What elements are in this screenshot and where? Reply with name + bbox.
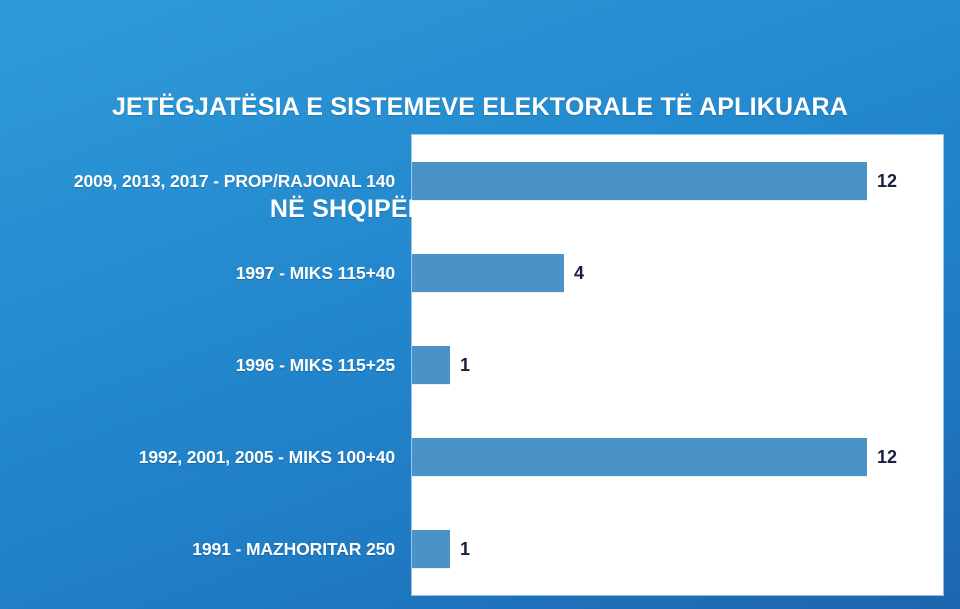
- category-label-3: 1992, 2001, 2005 - MIKS 100+40: [0, 411, 395, 503]
- bar-row: 2009, 2013, 2017 - PROP/RAJONAL 140 12: [0, 135, 960, 227]
- bar-track-4: 1: [412, 503, 943, 595]
- slide-canvas: JETËGJATËSIA E SISTEMEVE ELEKTORALE TË A…: [0, 0, 960, 609]
- bar-value-label-2: 1: [460, 346, 470, 384]
- bar-track-1: 4: [412, 227, 943, 319]
- bar-2[interactable]: [412, 346, 450, 384]
- bar-row: 1997 - MIKS 115+40 4: [0, 227, 960, 319]
- bar-3[interactable]: [412, 438, 867, 476]
- category-label-2: 1996 - MIKS 115+25: [0, 319, 395, 411]
- bar-value-label-0: 12: [877, 162, 897, 200]
- bar-row: 1991 - MAZHORITAR 250 1: [0, 503, 960, 595]
- bar-row: 1992, 2001, 2005 - MIKS 100+40 12: [0, 411, 960, 503]
- bar-track-3: 12: [412, 411, 943, 503]
- bar-track-0: 12: [412, 135, 943, 227]
- bar-row: 1996 - MIKS 115+25 1: [0, 319, 960, 411]
- category-label-4: 1991 - MAZHORITAR 250: [0, 503, 395, 595]
- bar-1[interactable]: [412, 254, 564, 292]
- bar-value-label-4: 1: [460, 530, 470, 568]
- category-label-0: 2009, 2013, 2017 - PROP/RAJONAL 140: [0, 135, 395, 227]
- bar-value-label-3: 12: [877, 438, 897, 476]
- bar-0[interactable]: [412, 162, 867, 200]
- bar-track-2: 1: [412, 319, 943, 411]
- bar-value-label-1: 4: [574, 254, 584, 292]
- bar-4[interactable]: [412, 530, 450, 568]
- chart-title-line-1: JETËGJATËSIA E SISTEMEVE ELEKTORALE TË A…: [0, 90, 960, 124]
- category-label-1: 1997 - MIKS 115+40: [0, 227, 395, 319]
